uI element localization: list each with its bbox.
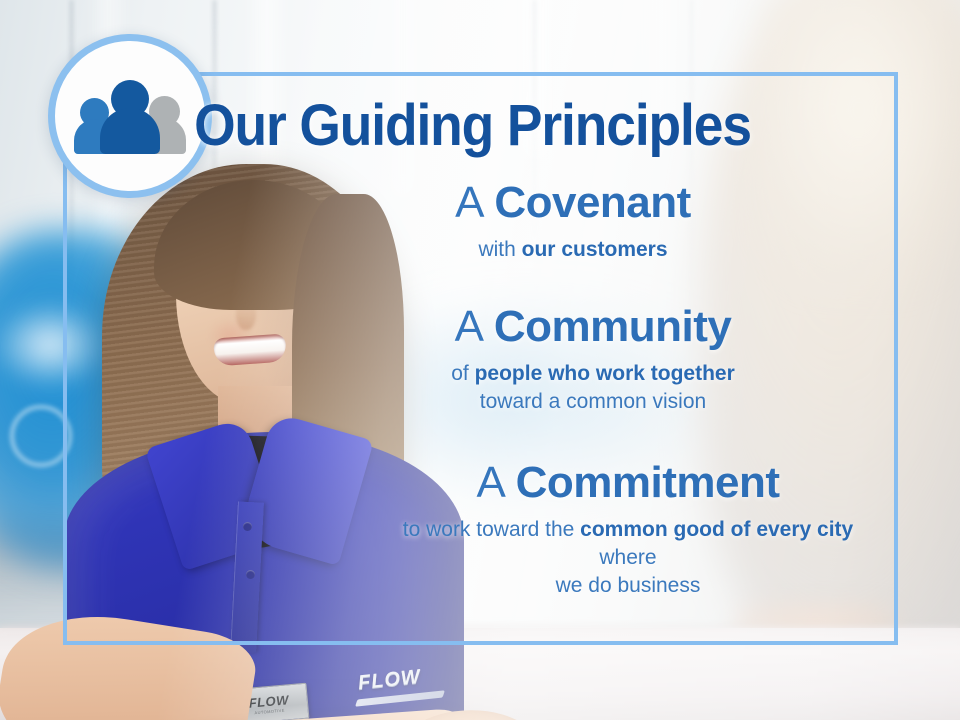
- detail-pre: of: [451, 362, 474, 385]
- principle-heading: A Covenant: [293, 180, 853, 226]
- principle-detail: of people who work togethertoward a comm…: [333, 360, 853, 415]
- detail-line2: toward a common vision: [480, 390, 706, 413]
- principle-article: A: [476, 458, 515, 507]
- detail-bold: people who work together: [475, 362, 735, 385]
- principle-commitment: A Commitment to work toward the common g…: [393, 460, 863, 599]
- detail-post: where: [599, 546, 656, 569]
- principle-heading: A Community: [333, 304, 853, 350]
- principle-keyword: Community: [494, 302, 732, 351]
- principle-detail: with our customers: [293, 236, 853, 264]
- principle-article: A: [455, 178, 494, 227]
- principle-keyword: Commitment: [516, 458, 780, 507]
- text-content: Our Guiding Principles A Covenant with o…: [63, 72, 898, 645]
- detail-pre: with: [478, 238, 521, 261]
- detail-bold: our customers: [522, 238, 668, 261]
- detail-line2: we do business: [556, 574, 701, 597]
- principle-article: A: [455, 302, 494, 351]
- principle-heading: A Commitment: [393, 460, 863, 506]
- detail-bold: common good of every city: [580, 518, 853, 541]
- principle-community: A Community of people who work togethert…: [333, 304, 853, 416]
- principle-keyword: Covenant: [494, 178, 690, 227]
- principle-covenant: A Covenant with our customers: [293, 180, 853, 264]
- detail-pre: to work toward the: [403, 518, 580, 541]
- page-title: Our Guiding Principles: [96, 96, 849, 155]
- guiding-principles-graphic: FLOW AUTOMOTIVE FLOW Our Guiding: [0, 0, 960, 720]
- principle-detail: to work toward the common good of every …: [393, 516, 863, 599]
